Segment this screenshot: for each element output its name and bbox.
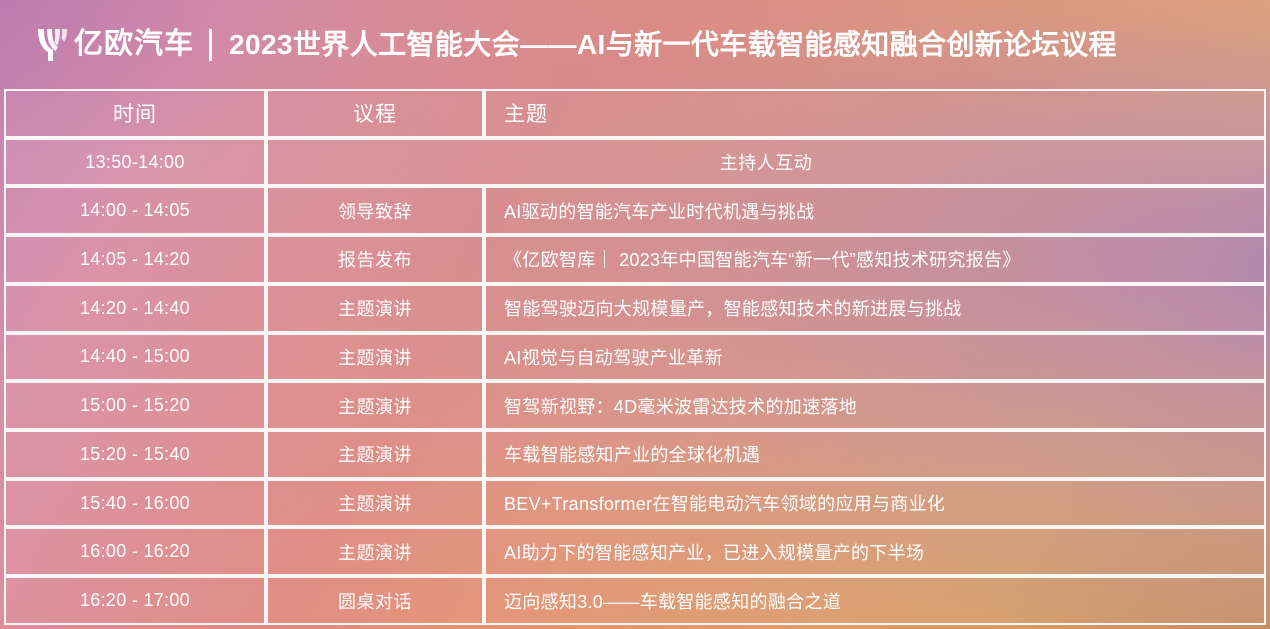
cell-topic: BEV+Transformer在智能电动汽车领域的应用与商业化 [484,479,1266,528]
table-row: 14:05 - 14:20报告发布《亿欧智库｜ 2023年中国智能汽车“新一代”… [4,235,1266,284]
cell-time: 15:40 - 16:00 [4,479,266,528]
agenda-table-head: 时间 议程 主题 [4,89,1266,138]
cell-topic: 《亿欧智库｜ 2023年中国智能汽车“新一代”感知技术研究报告》 [484,235,1266,284]
brand-logo-text: 亿欧汽车 [74,30,194,59]
cell-time: 15:00 - 15:20 [4,381,266,430]
table-row: 16:20 - 17:00圆桌对话迈向感知3.0——车载智能感知的融合之道 [4,576,1266,625]
cell-topic: 智驾新视野：4D毫米波雷达技术的加速落地 [484,381,1266,430]
header-divider [209,29,212,61]
cell-item: 主题演讲 [266,333,484,382]
cell-topic: AI视觉与自动驾驶产业革新 [484,333,1266,382]
cell-topic: 迈向感知3.0——车载智能感知的融合之道 [484,576,1266,625]
table-row: 15:20 - 15:40主题演讲车载智能感知产业的全球化机遇 [4,430,1266,479]
cell-time: 14:40 - 15:00 [4,333,266,382]
cell-topic: 智能驾驶迈向大规模量产，智能感知技术的新进展与挑战 [484,284,1266,333]
agenda-table-body: 13:50-14:00主持人互动14:00 - 14:05领导致辞AI驱动的智能… [4,138,1266,625]
cell-time: 14:05 - 14:20 [4,235,266,284]
equalocean-y-mark-icon [36,27,70,63]
cell-item: 报告发布 [266,235,484,284]
cell-topic: AI驱动的智能汽车产业时代机遇与挑战 [484,186,1266,235]
brand-logo: 亿欧汽车 [36,27,194,63]
cell-item: 主题演讲 [266,430,484,479]
cell-item: 领导致辞 [266,186,484,235]
cell-merged-session: 主持人互动 [266,138,1266,187]
agenda-table: 时间 议程 主题 13:50-14:00主持人互动14:00 - 14:05领导… [4,89,1266,625]
cell-time: 16:00 - 16:20 [4,527,266,576]
table-row: 14:20 - 14:40主题演讲智能驾驶迈向大规模量产，智能感知技术的新进展与… [4,284,1266,333]
cell-item: 主题演讲 [266,381,484,430]
cell-item: 主题演讲 [266,284,484,333]
table-row: 14:00 - 14:05领导致辞AI驱动的智能汽车产业时代机遇与挑战 [4,186,1266,235]
cell-item: 主题演讲 [266,479,484,528]
table-row: 16:00 - 16:20主题演讲AI助力下的智能感知产业，已进入规模量产的下半… [4,527,1266,576]
table-row: 14:40 - 15:00主题演讲AI视觉与自动驾驶产业革新 [4,333,1266,382]
table-header-row: 时间 议程 主题 [4,89,1266,138]
table-row: 15:00 - 15:20主题演讲智驾新视野：4D毫米波雷达技术的加速落地 [4,381,1266,430]
cell-item: 主题演讲 [266,527,484,576]
cell-time: 13:50-14:00 [4,138,266,187]
cell-time: 14:20 - 14:40 [4,284,266,333]
column-header-item: 议程 [266,89,484,138]
cell-topic: AI助力下的智能感知产业，已进入规模量产的下半场 [484,527,1266,576]
cell-time: 16:20 - 17:00 [4,576,266,625]
page-title: 2023世界人工智能大会——AI与新一代车载智能感知融合创新论坛议程 [229,31,1117,59]
cell-time: 14:00 - 14:05 [4,186,266,235]
column-header-topic: 主题 [484,89,1266,138]
table-row: 15:40 - 16:00主题演讲BEV+Transformer在智能电动汽车领… [4,479,1266,528]
cell-time: 15:20 - 15:40 [4,430,266,479]
poster-header: 亿欧汽车 2023世界人工智能大会——AI与新一代车载智能感知融合创新论坛议程 [0,0,1270,89]
column-header-time: 时间 [4,89,266,138]
table-row: 13:50-14:00主持人互动 [4,138,1266,187]
cell-item: 圆桌对话 [266,576,484,625]
cell-topic: 车载智能感知产业的全球化机遇 [484,430,1266,479]
